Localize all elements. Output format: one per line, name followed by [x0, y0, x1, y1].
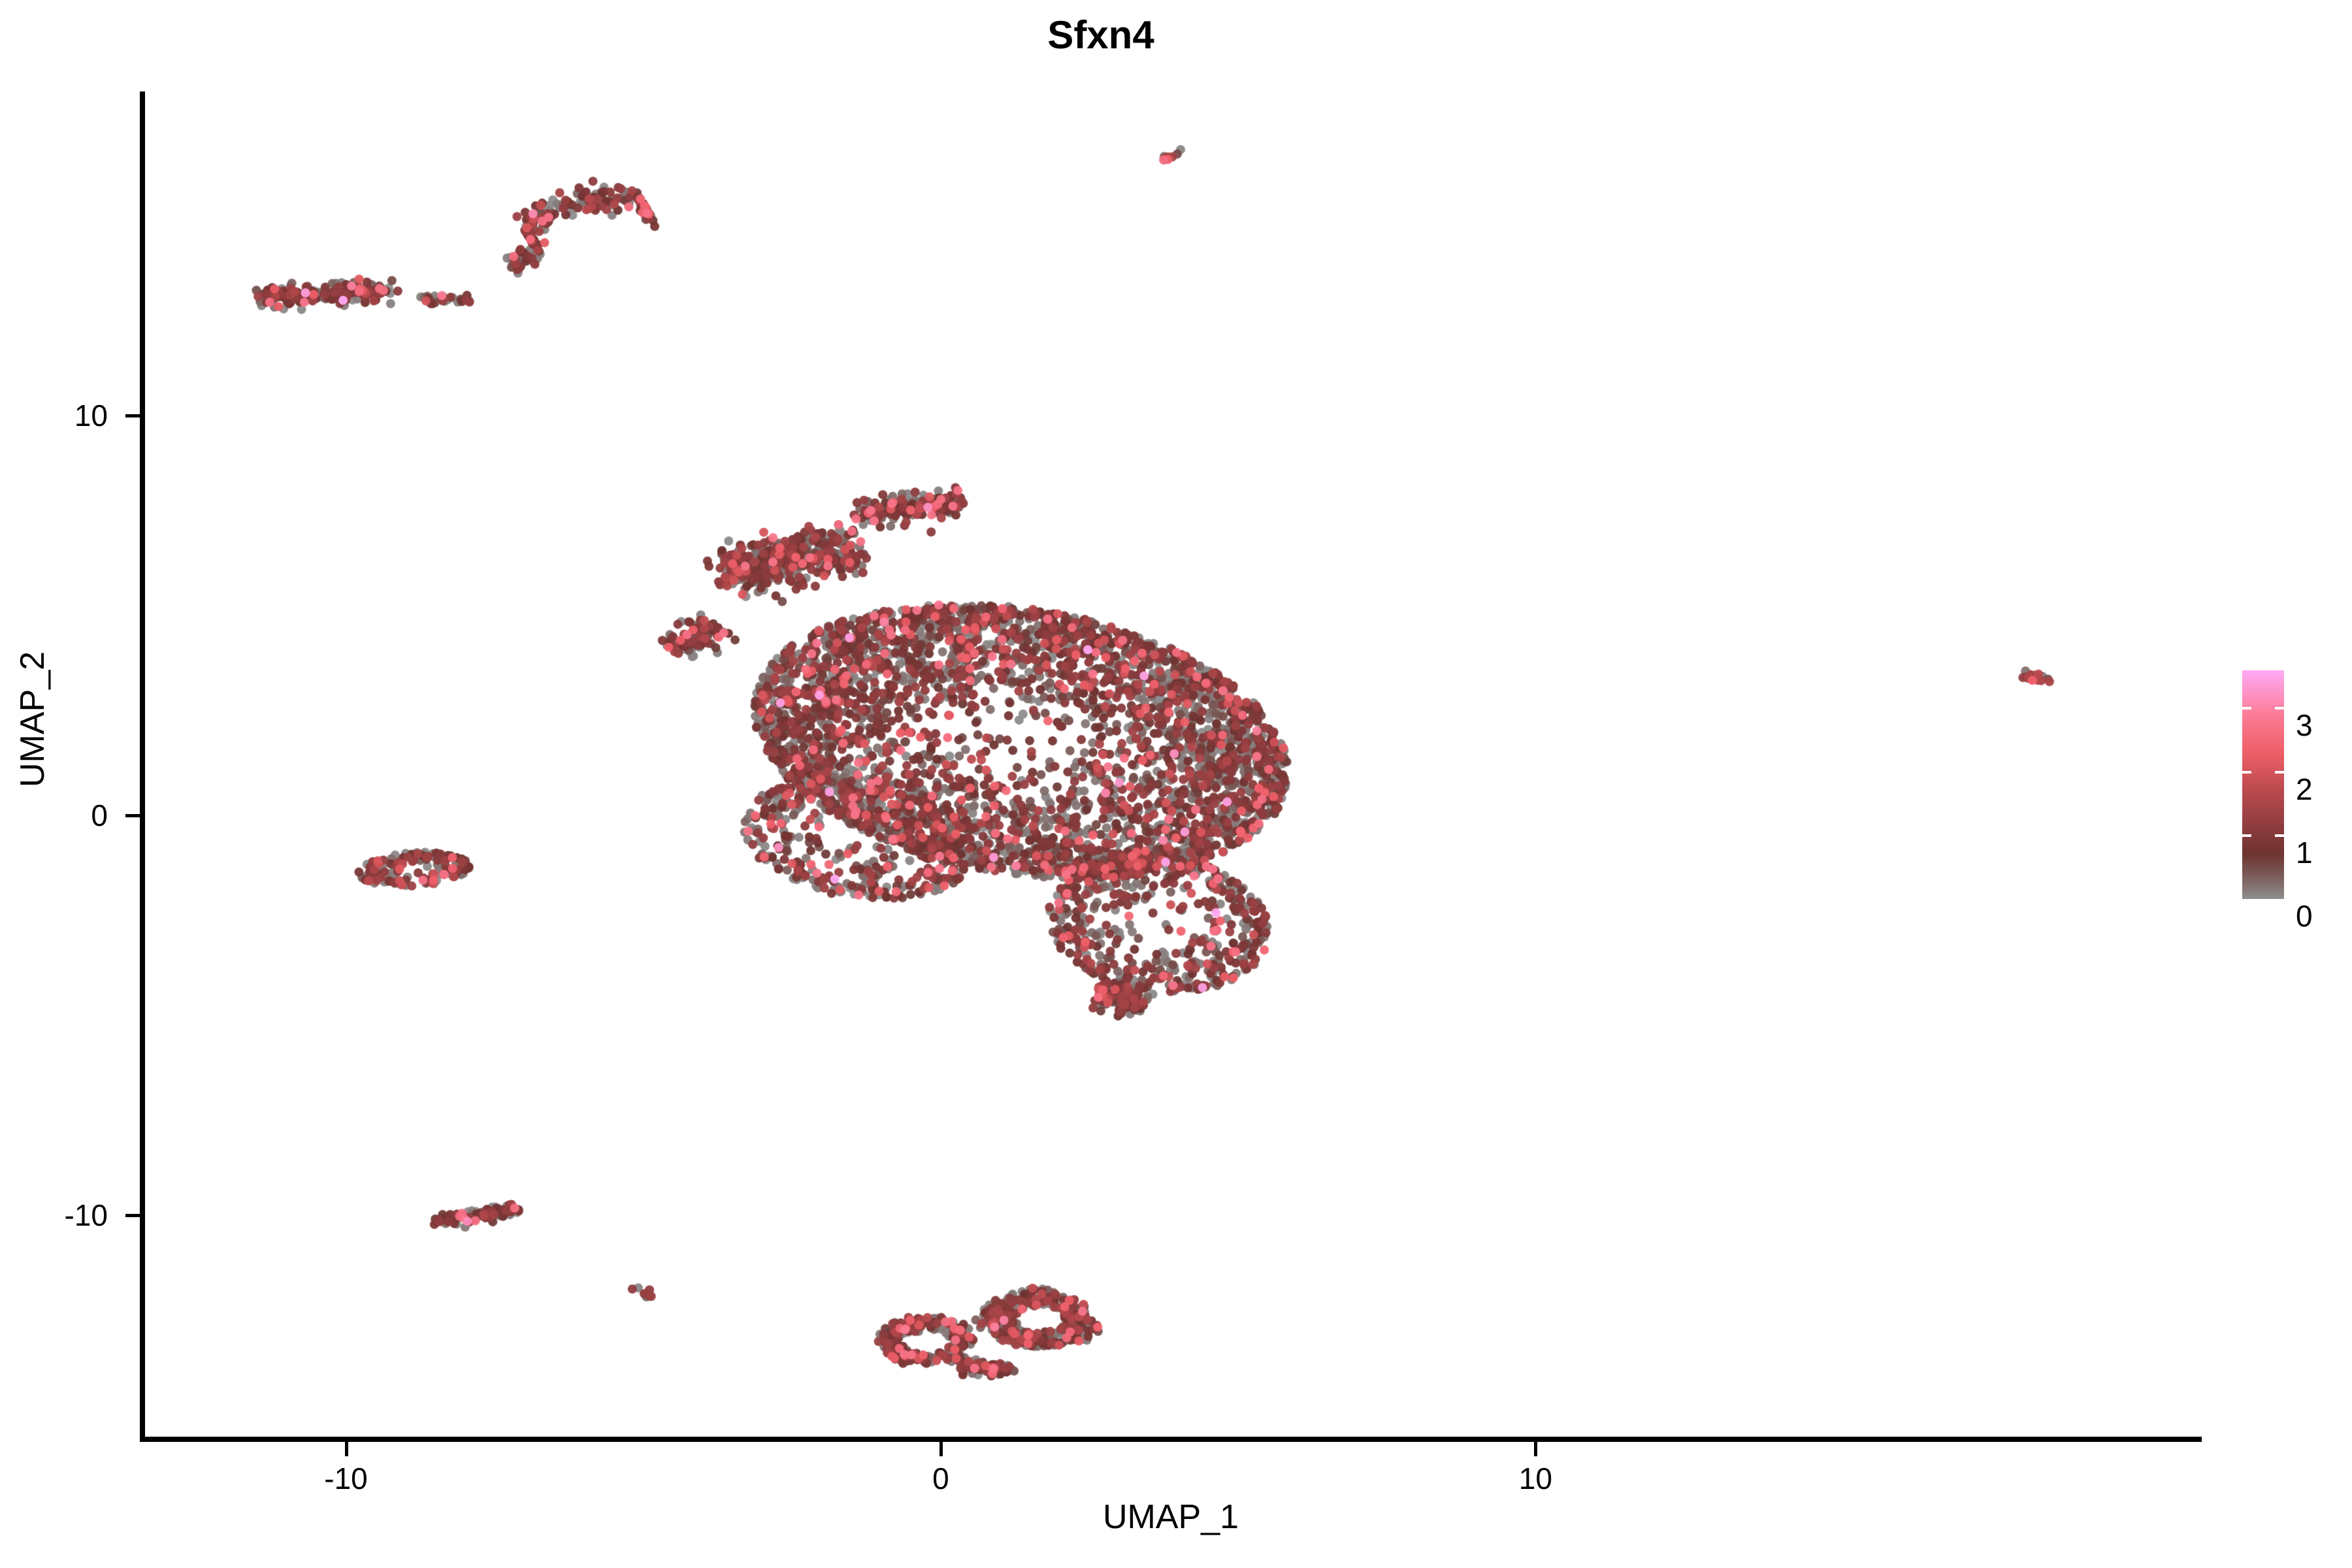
colorbar-tick-label: 3	[2296, 710, 2313, 740]
y-tick-mark	[125, 1214, 140, 1217]
colorbar-tick-mark	[2242, 771, 2284, 774]
y-tick-label: 10	[0, 400, 108, 431]
y-tick-label: -10	[0, 1200, 108, 1230]
y-axis-title: UMAP_2	[16, 582, 50, 857]
y-tick-mark	[125, 414, 140, 417]
page-title: Sfxn4	[0, 16, 2202, 55]
x-tick-mark	[345, 1442, 348, 1456]
x-tick-mark	[939, 1442, 943, 1456]
x-axis-line	[140, 1437, 2202, 1442]
plot-panel	[144, 91, 2202, 1439]
colorbar-tick-mark	[2242, 834, 2284, 837]
feature-plot-figure: Sfxn4 -10010 -10010 UMAP_1 UMAP_2 0123	[0, 0, 2352, 1568]
umap-scatter-canvas	[144, 91, 2202, 1439]
x-axis-title: UMAP_1	[140, 1500, 2202, 1534]
colorbar-tick-label: 2	[2296, 774, 2313, 804]
y-axis-line	[140, 91, 145, 1442]
y-tick-mark	[125, 814, 140, 817]
x-tick-label: 0	[810, 1463, 1071, 1494]
x-tick-mark	[1534, 1442, 1537, 1456]
colorbar-tick-mark	[2242, 707, 2284, 710]
x-tick-label: -10	[216, 1463, 477, 1494]
colorbar-tick-label: 1	[2296, 838, 2313, 868]
x-tick-label: 10	[1405, 1463, 1666, 1494]
colorbar-gradient	[2242, 670, 2284, 899]
colorbar-tick-label: 0	[2296, 901, 2313, 931]
colorbar-legend: 0123	[2242, 670, 2340, 899]
